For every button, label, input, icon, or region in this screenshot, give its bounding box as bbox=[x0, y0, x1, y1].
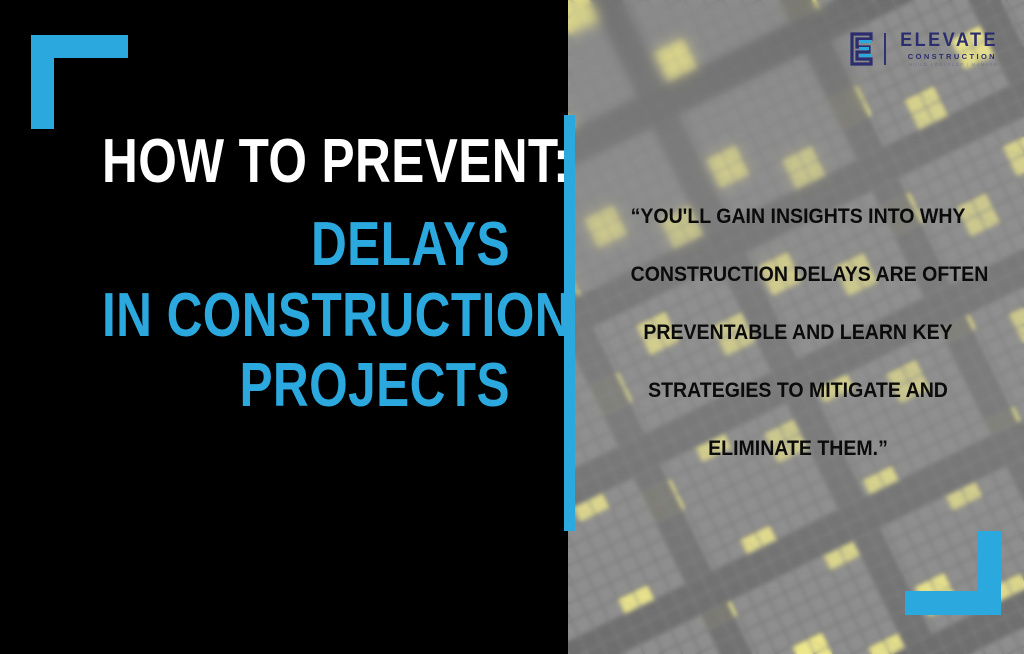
headline-line-in-construction: IN CONSTRUCTION bbox=[102, 286, 510, 347]
poster-canvas: HOW TO PREVENT: DELAYS IN CONSTRUCTION P… bbox=[0, 0, 1024, 654]
headline-block: HOW TO PREVENT: DELAYS IN CONSTRUCTION P… bbox=[0, 132, 540, 417]
logo-divider bbox=[884, 33, 886, 65]
corner-bracket-bottom-right-icon bbox=[905, 531, 1001, 615]
quote-block: “YOU'LL GAIN INSIGHTS INTO WHY CONSTRUCT… bbox=[618, 188, 978, 478]
quote-line-1: “YOU'LL GAIN INSIGHTS INTO WHY bbox=[631, 188, 966, 246]
quote-line-3: PREVENTABLE AND LEARN KEY bbox=[631, 304, 966, 362]
logo-tagline-text: BUILD | DEVELOP | MANAGE bbox=[909, 63, 998, 68]
headline-line-delays: DELAYS bbox=[102, 215, 510, 276]
corner-bracket-top-left-icon bbox=[31, 35, 128, 129]
left-panel: HOW TO PREVENT: DELAYS IN CONSTRUCTION P… bbox=[0, 0, 568, 654]
logo-subtitle-text: CONSTRUCTION bbox=[908, 53, 997, 61]
elevate-construction-logo: ELEVATE CONSTRUCTION BUILD | DEVELOP | M… bbox=[849, 31, 998, 67]
quote-line-2: CONSTRUCTION DELAYS ARE OFTEN bbox=[631, 246, 966, 304]
headline-line-how-to-prevent: HOW TO PREVENT: bbox=[102, 132, 510, 193]
vertical-accent-divider bbox=[564, 115, 575, 531]
logo-wordmark: ELEVATE CONSTRUCTION BUILD | DEVELOP | M… bbox=[895, 31, 998, 67]
elevate-e-mark-icon bbox=[849, 32, 875, 66]
right-panel: ELEVATE CONSTRUCTION BUILD | DEVELOP | M… bbox=[568, 0, 1024, 654]
logo-name-text: ELEVATE bbox=[900, 31, 998, 50]
bracket-vertical-arm bbox=[977, 531, 1001, 615]
bracket-vertical-arm bbox=[31, 35, 54, 129]
quote-line-5: ELIMINATE THEM.” bbox=[631, 420, 966, 478]
headline-line-projects: PROJECTS bbox=[102, 356, 510, 417]
quote-line-4: STRATEGIES TO MITIGATE AND bbox=[631, 362, 966, 420]
